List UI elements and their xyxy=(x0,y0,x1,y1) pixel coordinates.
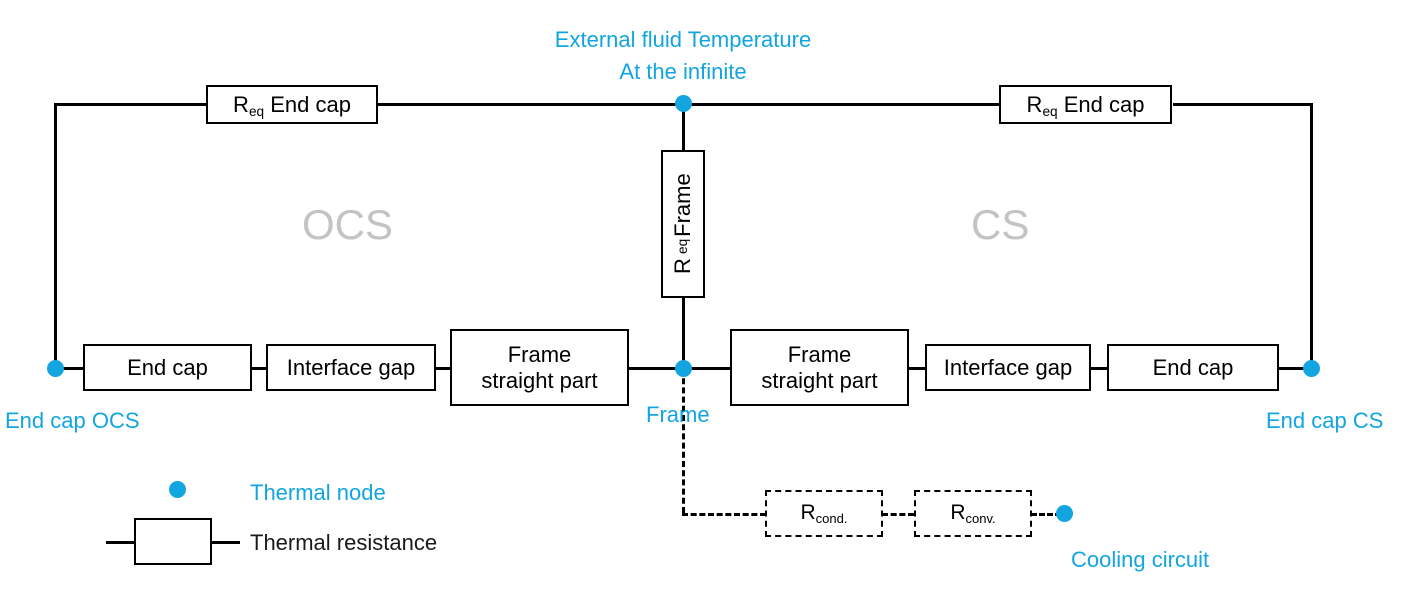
resistance-interface-gap-cs[interactable]: Interface gap xyxy=(925,344,1091,391)
resistance-label: Frame straight part xyxy=(761,342,877,394)
wire-bottom-endcap-to-gap xyxy=(251,367,267,370)
resistance-req-end-cap-ocs[interactable]: Req End cap xyxy=(206,85,378,124)
resistance-label: Interface gap xyxy=(944,355,1072,381)
wire-cooling-horizontal xyxy=(682,513,766,516)
wire-top-center-right xyxy=(683,103,999,106)
resistance-label: Req End cap xyxy=(1027,92,1145,118)
label-end-cap-ocs: End cap OCS xyxy=(5,405,140,437)
legend-thermal-node-label: Thermal node xyxy=(250,477,386,509)
resistance-label: Req End cap xyxy=(233,92,351,118)
wire-top-left-segment xyxy=(54,103,208,106)
wire-center-lower xyxy=(682,297,685,369)
resistance-label: End cap xyxy=(1153,355,1234,381)
wire-bottom-gap-to-frame xyxy=(435,367,451,370)
thermal-node-cooling-circuit[interactable] xyxy=(1056,505,1073,522)
legend-thermal-resistance-icon xyxy=(134,518,212,565)
resistance-label: Rcond. xyxy=(800,501,847,526)
wire-left-rail xyxy=(54,103,57,369)
thermal-network-diagram: Req End cap Req End cap Req Frame End ca… xyxy=(0,0,1403,589)
label-end-cap-cs: End cap CS xyxy=(1266,405,1383,437)
resistance-frame-straight-part-cs[interactable]: Frame straight part xyxy=(730,329,909,406)
resistance-r-cond[interactable]: Rcond. xyxy=(765,490,883,537)
region-label-ocs: OCS xyxy=(302,201,393,249)
wire-bottom-gap-to-endcap xyxy=(1090,367,1108,370)
resistance-label: End cap xyxy=(127,355,208,381)
resistance-label: Rconv. xyxy=(950,501,995,526)
resistance-req-frame[interactable]: Req Frame xyxy=(661,150,705,298)
wire-top-right-segment xyxy=(1173,103,1313,106)
resistance-end-cap-cs[interactable]: End cap xyxy=(1107,344,1279,391)
resistance-label: Frame straight part xyxy=(481,342,597,394)
legend-resistance-lead-left xyxy=(106,541,135,544)
resistance-req-end-cap-cs[interactable]: Req End cap xyxy=(999,85,1172,124)
label-frame: Frame xyxy=(646,399,710,431)
resistance-label: Req Frame xyxy=(670,174,696,275)
legend-thermal-resistance-label: Thermal resistance xyxy=(250,530,437,556)
wire-bottom-framer-to-gap xyxy=(908,367,926,370)
label-external-fluid-temperature: External fluid Temperature At the infini… xyxy=(483,24,883,88)
wire-cooling-between-r xyxy=(882,513,914,516)
resistance-interface-gap-ocs[interactable]: Interface gap xyxy=(266,344,436,391)
thermal-node-end-cap-cs[interactable] xyxy=(1303,360,1320,377)
thermal-node-external-fluid[interactable] xyxy=(675,95,692,112)
resistance-end-cap-ocs[interactable]: End cap xyxy=(83,344,252,391)
label-cooling-circuit: Cooling circuit xyxy=(1071,544,1209,576)
thermal-node-end-cap-ocs[interactable] xyxy=(47,360,64,377)
legend-resistance-lead-right xyxy=(211,541,240,544)
legend-thermal-node-icon xyxy=(169,481,186,498)
resistance-label: Interface gap xyxy=(287,355,415,381)
resistance-r-conv[interactable]: Rconv. xyxy=(914,490,1032,537)
wire-top-center-left xyxy=(377,103,685,106)
resistance-frame-straight-part-ocs[interactable]: Frame straight part xyxy=(450,329,629,406)
wire-right-rail xyxy=(1310,103,1313,369)
wire-cooling-vertical xyxy=(682,369,685,513)
region-label-cs: CS xyxy=(971,201,1029,249)
thermal-node-frame[interactable] xyxy=(675,360,692,377)
